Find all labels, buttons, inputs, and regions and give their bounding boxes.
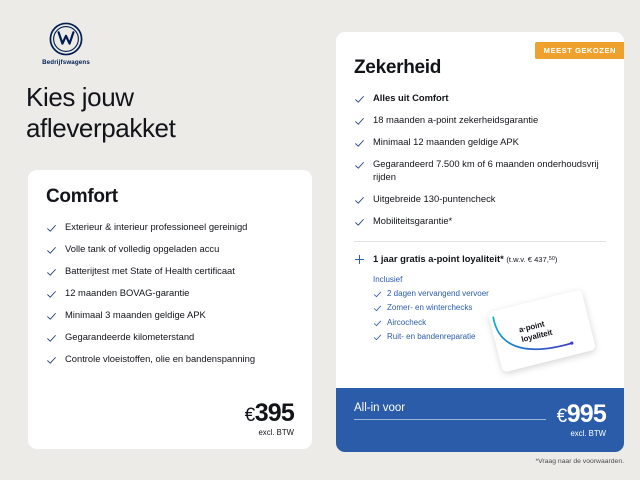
list-item-label: Gegarandeerd 7.500 km of 6 maanden onder… [373, 158, 599, 182]
check-icon [354, 160, 365, 171]
check-icon [373, 319, 382, 328]
check-icon [46, 245, 57, 256]
currency-symbol: € [245, 405, 255, 426]
list-item-label: Ruit- en bandenreparatie [387, 332, 476, 341]
comfort-price: €395 [245, 401, 294, 426]
list-item-label: Volle tank of volledig opgeladen accu [65, 243, 219, 254]
list-item: Gegarandeerde kilometerstand [46, 331, 294, 344]
plus-icon [354, 254, 365, 265]
list-item-label: Alles uit Comfort [373, 92, 449, 103]
page-title-line1: Kies jouw [26, 82, 134, 112]
price-amount-value: 395 [255, 399, 294, 427]
allin-block: All-in voor [354, 402, 546, 420]
list-item-label: Exterieur & interieur professioneel gere… [65, 221, 247, 232]
zekerheid-price-note: excl. BTW [557, 429, 606, 438]
left-column: Bedrijfswagens Kies jouw afleverpakket C… [0, 0, 330, 480]
check-icon [46, 267, 57, 278]
comfort-feature-list: Exterieur & interieur professioneel gere… [46, 221, 294, 366]
included-block: Inclusief 2 dagen vervangend vervoer Zom… [354, 275, 606, 343]
check-icon [46, 355, 57, 366]
loyalty-value-suffix: ) [555, 255, 558, 264]
loyalty-bonus-value: (t.w.v. € 437,50) [506, 255, 557, 264]
list-item-label: 12 maanden BOVAG-garantie [65, 287, 189, 298]
status-badge: MEEST GEKOZEN [535, 42, 624, 59]
zekerheid-feature-list: Alles uit Comfort 18 maanden a-point zek… [354, 92, 606, 228]
price-amount-value: 995 [567, 400, 606, 428]
brand-block: Bedrijfswagens [36, 22, 96, 66]
check-icon [373, 304, 382, 313]
list-item: Aircocheck [373, 318, 606, 328]
list-item-label: 18 maanden a-point zekerheidsgarantie [373, 114, 538, 125]
list-item-label: 2 dagen vervangend vervoer [387, 289, 489, 298]
check-icon [354, 94, 365, 105]
comfort-package-card[interactable]: Comfort Exterieur & interieur profession… [28, 170, 312, 449]
check-icon [354, 217, 365, 228]
list-item-label: Mobiliteitsgarantie* [373, 215, 452, 226]
list-item: 2 dagen vervangend vervoer [373, 289, 606, 299]
check-icon [373, 333, 382, 342]
check-icon [46, 311, 57, 322]
brand-name: Bedrijfswagens [36, 59, 96, 66]
list-item: Gegarandeerd 7.500 km of 6 maanden onder… [354, 158, 606, 184]
vw-roundel-icon [49, 22, 83, 56]
check-icon [46, 289, 57, 300]
check-icon [373, 290, 382, 299]
allin-label: All-in voor [354, 402, 546, 414]
zekerheid-package-card[interactable]: MEEST GEKOZEN Zekerheid Alles uit Comfor… [336, 32, 624, 452]
page-title-line2: afleverpakket [26, 113, 175, 143]
check-icon [354, 195, 365, 206]
footer-row: All-in voor €995 excl. BTW [354, 402, 606, 438]
promo-page: Bedrijfswagens Kies jouw afleverpakket C… [0, 0, 640, 480]
list-item: Zomer- en winterchecks [373, 303, 606, 313]
zekerheid-price: €995 [557, 402, 606, 427]
check-icon [46, 333, 57, 344]
list-item-label: Zomer- en winterchecks [387, 303, 472, 312]
zekerheid-title: Zekerheid [354, 57, 606, 79]
zekerheid-price-footer: All-in voor €995 excl. BTW [336, 388, 624, 452]
included-title: Inclusief [373, 275, 606, 284]
disclaimer-text: *Vraag naar de voorwaarden. [535, 458, 624, 465]
list-item: Uitgebreide 130-puntencheck [354, 193, 606, 206]
comfort-price-note: excl. BTW [245, 428, 294, 437]
list-item-label: Controle vloeistoffen, olie en bandenspa… [65, 353, 255, 364]
check-icon [354, 138, 365, 149]
list-item-label: Minimaal 12 maanden geldige APK [373, 136, 519, 147]
list-item-label: Aircocheck [387, 318, 426, 327]
list-item: Ruit- en bandenreparatie [373, 332, 606, 342]
list-item-label: Uitgebreide 130-puntencheck [373, 193, 495, 204]
list-item-label: Gegarandeerde kilometerstand [65, 331, 194, 342]
list-item: Mobiliteitsgarantie* [354, 215, 606, 228]
list-item: Minimaal 3 maanden geldige APK [46, 309, 294, 322]
list-item: Batterijtest met State of Health certifi… [46, 265, 294, 278]
loyalty-bonus-row: 1 jaar gratis a-point loyaliteit* (t.w.v… [354, 253, 606, 265]
check-icon [46, 223, 57, 234]
section-divider [354, 241, 606, 242]
included-list: 2 dagen vervangend vervoer Zomer- en win… [373, 289, 606, 343]
zekerheid-body: MEEST GEKOZEN Zekerheid Alles uit Comfor… [336, 32, 624, 343]
comfort-price-block: €395 excl. BTW [245, 401, 294, 437]
loyalty-value-prefix: (t.w.v. € 437, [506, 255, 549, 264]
loyalty-bonus-label: 1 jaar gratis a-point loyaliteit* [373, 253, 504, 264]
list-item: 18 maanden a-point zekerheidsgarantie [354, 114, 606, 127]
currency-symbol: € [557, 406, 567, 427]
list-item: Volle tank of volledig opgeladen accu [46, 243, 294, 256]
list-item: 12 maanden BOVAG-garantie [46, 287, 294, 300]
footer-rule [354, 419, 546, 420]
list-item-label: Batterijtest met State of Health certifi… [65, 265, 235, 276]
list-item: Alles uit Comfort [354, 92, 606, 105]
zekerheid-price-block: €995 excl. BTW [557, 402, 606, 438]
page-title: Kies jouw afleverpakket [26, 82, 316, 143]
comfort-title: Comfort [46, 186, 294, 208]
check-icon [354, 116, 365, 127]
list-item: Minimaal 12 maanden geldige APK [354, 136, 606, 149]
list-item: Exterieur & interieur professioneel gere… [46, 221, 294, 234]
list-item-label: Minimaal 3 maanden geldige APK [65, 309, 206, 320]
list-item: Controle vloeistoffen, olie en bandenspa… [46, 353, 294, 366]
